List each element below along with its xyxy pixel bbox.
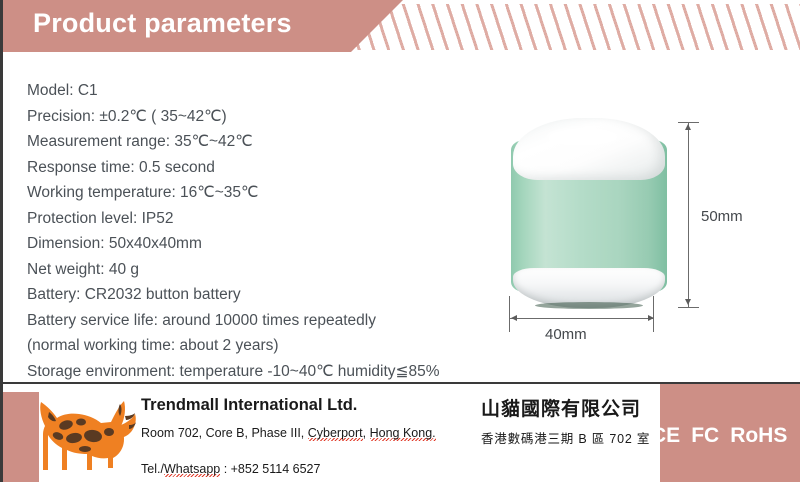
tel-number: : +852 5114 6527: [220, 462, 320, 476]
spec-line-storage-environment: Storage environment: temperature -10~40℃…: [27, 359, 497, 385]
address-part-2: ,: [363, 426, 370, 440]
rohs-mark: RoHS: [730, 424, 787, 447]
spec-line-battery: Battery: CR2032 button battery: [27, 282, 497, 308]
spec-line-net-weight: Net weight: 40 g: [27, 257, 497, 283]
header-banner: Product parameters: [3, 0, 800, 52]
product-parameters-page: Product parameters Model: C1 Precision: …: [0, 0, 800, 482]
spec-line-measurement-range: Measurement range: 35℃~42℃: [27, 129, 497, 155]
width-dimension-right-tick: [653, 296, 654, 332]
address-hongkong: Hong Kong.: [370, 426, 436, 441]
spec-line-protection-level: Protection level: IP52: [27, 206, 497, 232]
spec-line-model: Model: C1: [27, 78, 497, 104]
ce-mark: CE: [651, 424, 680, 447]
spec-line-normal-working-time: (normal working time: about 2 years): [27, 333, 497, 359]
spec-line-battery-service-life: Battery service life: around 10000 times…: [27, 308, 497, 334]
width-arrow-left-icon: [511, 315, 517, 321]
width-arrow-right-icon: [648, 315, 654, 321]
device-top-cap: [513, 118, 665, 180]
spec-line-dimension: Dimension: 50x40x40mm: [27, 231, 497, 257]
thermometer-device-photo: [505, 118, 673, 310]
height-dimension-bottom-tick: [678, 307, 699, 308]
fcc-mark: FC: [691, 424, 719, 447]
device-cap-highlight: [547, 128, 619, 146]
address-part-1: Room 702, Core B, Phase III,: [141, 426, 308, 440]
height-arrow-up-icon: [685, 124, 691, 130]
tel-prefix: Tel./: [141, 462, 164, 476]
leopard-cat-logo: [25, 392, 137, 478]
device-foot-shadow: [535, 302, 643, 309]
address-cyberport: Cyberport: [308, 426, 363, 441]
footer: Trendmall International Ltd. Room 702, C…: [3, 382, 800, 482]
company-address-chinese: 香港數碼港三期 B 區 702 室: [481, 428, 650, 447]
height-dimension-label: 50mm: [701, 208, 743, 225]
width-dimension-line: [509, 318, 654, 319]
company-telephone: Tel./Whatsapp : +852 5114 6527: [141, 462, 320, 476]
width-dimension-left-tick: [509, 296, 510, 332]
certification-marks: CEFCRoHS: [651, 424, 798, 448]
height-dimension-line: [688, 122, 689, 307]
company-address-english: Room 702, Core B, Phase III, Cyberport, …: [141, 426, 436, 440]
tel-whatsapp-label: Whatsapp: [164, 462, 220, 477]
banner-stripe-pattern: [343, 4, 800, 50]
spec-line-working-temperature: Working temperature: 16℃~35℃: [27, 180, 497, 206]
company-name-english: Trendmall International Ltd.: [141, 396, 357, 415]
page-title: Product parameters: [33, 8, 292, 39]
specification-list: Model: C1 Precision: ±0.2℃ ( 35~42℃) Mea…: [27, 78, 497, 384]
width-dimension-label: 40mm: [545, 326, 587, 343]
product-image-area: 50mm 40mm: [483, 100, 800, 370]
spec-line-response-time: Response time: 0.5 second: [27, 155, 497, 181]
company-name-chinese: 山貓國際有限公司: [481, 394, 641, 421]
spec-line-precision: Precision: ±0.2℃ ( 35~42℃): [27, 104, 497, 130]
height-arrow-down-icon: [685, 299, 691, 305]
